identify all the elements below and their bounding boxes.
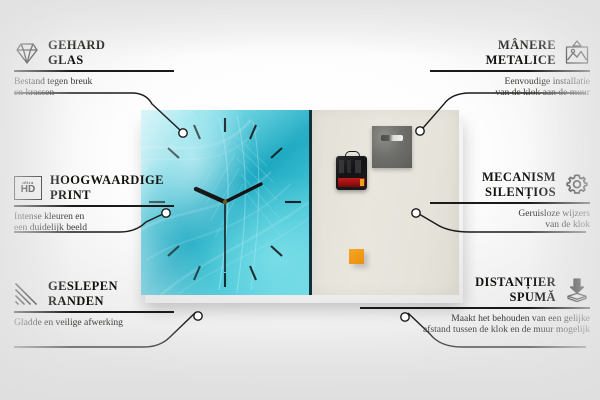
divider: [14, 70, 174, 72]
feature-title: DISTANȚIER SPUMĂ: [475, 275, 556, 304]
gear-icon: [564, 172, 590, 198]
feature-subtitle: Gladde en veilige afwerking: [14, 317, 214, 329]
feature-title: MÂNERE METALICE: [486, 38, 556, 67]
battery: [338, 178, 365, 187]
hanger-keyhole-slot: [381, 135, 403, 141]
feature-manere-metalice[interactable]: MÂNERE METALICE Eenvoudige installatie v…: [380, 38, 590, 99]
metal-hanger-plate: [372, 126, 412, 168]
feature-title: GESLEPEN RANDEN: [48, 279, 118, 308]
feature-gehard-glas[interactable]: GEHARD GLAS Bestand tegen breuk en krass…: [14, 38, 214, 99]
feature-title: GEHARD GLAS: [48, 38, 105, 67]
divider: [430, 202, 590, 204]
divider: [14, 205, 174, 207]
mechanism-label: [339, 160, 364, 173]
arrow-onto-pad-icon: [564, 277, 590, 303]
feature-subtitle: Maakt het behouden van een gelijke afsta…: [360, 313, 590, 336]
ultra-hd-icon-large-text: HD: [21, 185, 35, 195]
feature-geslepen-randen[interactable]: GESLEPEN RANDEN Gladde en veilige afwerk…: [14, 279, 214, 328]
feature-mecanism-silentios[interactable]: MECANISM SILENȚIOS Geruisloze wijzers va…: [380, 170, 590, 231]
feature-distantier-spuma[interactable]: DISTANȚIER SPUMĂ Maakt het behouden van …: [360, 275, 590, 336]
feature-title: HOOGWAARDIGE PRINT: [50, 173, 164, 202]
feature-subtitle: Geruisloze wijzers van de klok: [380, 208, 590, 231]
clock-mechanism-module: [336, 156, 367, 190]
divider: [430, 70, 590, 72]
picture-frame-hanger-icon: [564, 40, 590, 66]
feature-title: MECANISM SILENȚIOS: [482, 170, 556, 199]
feature-subtitle: Eenvoudige installatie van de klok aan d…: [380, 76, 590, 99]
diagonal-lines-icon: [14, 281, 40, 307]
feature-hoogwaardige-print[interactable]: ultra HD HOOGWAARDIGE PRINT Intense kleu…: [14, 173, 214, 234]
mechanism-hanging-loop: [345, 151, 360, 159]
foam-spacer: [349, 249, 364, 264]
feature-subtitle: Intense kleuren en een duidelijk beeld: [14, 211, 214, 234]
divider: [360, 307, 590, 309]
divider: [14, 311, 174, 313]
diamond-icon: [14, 40, 40, 66]
ultra-hd-icon: ultra HD: [14, 176, 42, 200]
product-infographic: GEHARD GLAS Bestand tegen breuk en krass…: [0, 0, 600, 400]
feature-subtitle: Bestand tegen breuk en krassen: [14, 76, 214, 99]
